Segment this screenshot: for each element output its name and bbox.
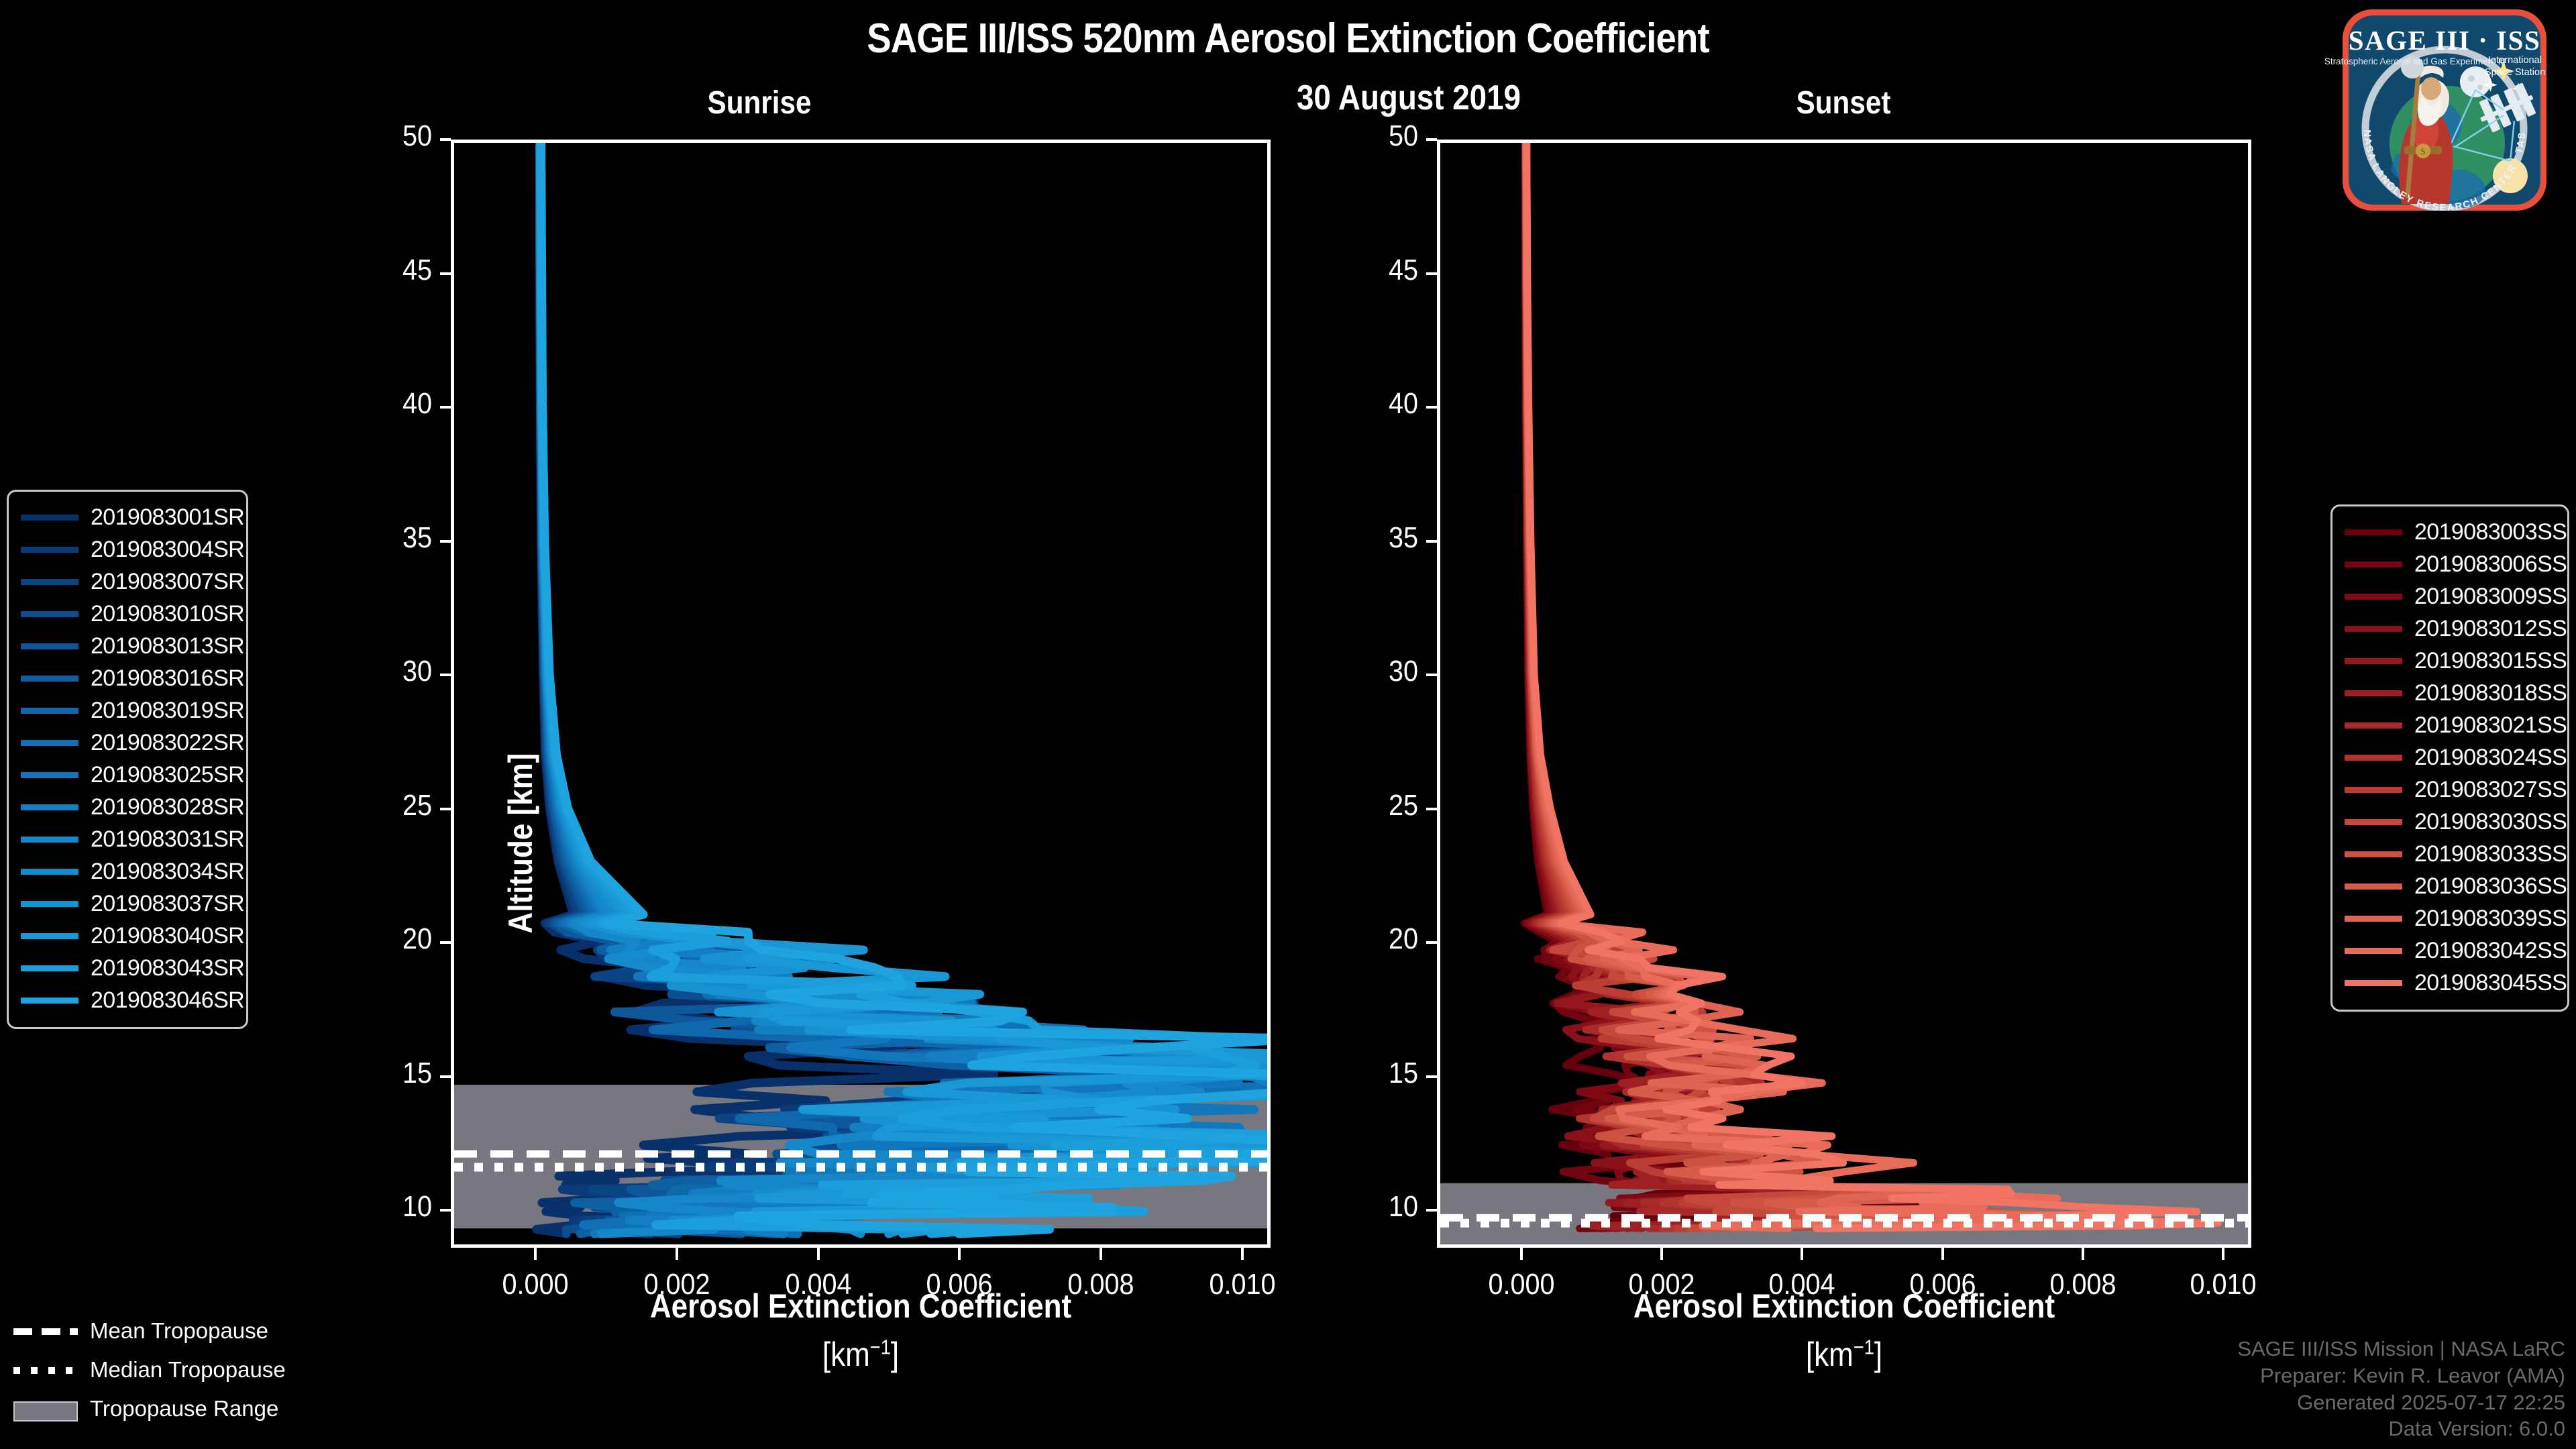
x-axis-tick-mark (1660, 1248, 1663, 1260)
legend-sunset[interactable]: 2019083003SS2019083006SS2019083009SS2019… (2330, 504, 2569, 1012)
y-axis-tick-mark (440, 808, 451, 810)
legend-item[interactable]: 2019083043SR (21, 952, 234, 984)
legend-item-label: 2019083022SR (91, 730, 244, 756)
legend-color-swatch (2345, 658, 2402, 664)
legend-item[interactable]: 2019083045SS (2345, 967, 2555, 999)
x-axis-title-sunset: Aerosol Extinction Coefficient (1486, 1287, 2202, 1326)
legend-color-swatch (21, 869, 78, 875)
y-axis-tick-mark (440, 272, 451, 275)
y-axis-tick-label: 20 (1334, 922, 1418, 956)
legend-item[interactable]: 2019083031SR (21, 823, 234, 855)
legend-item-label: 2019083036SS (2414, 873, 2567, 900)
x-axis-tick-mark (1520, 1248, 1523, 1260)
legend-item-label: 2019083015SS (2414, 648, 2567, 674)
legend-item[interactable]: 2019083042SS (2345, 934, 2555, 967)
legend-item-label: 2019083028SR (91, 794, 244, 820)
logo-subtitle-right-2: Space Station (2485, 67, 2545, 78)
legend-color-swatch (21, 901, 78, 907)
median-tropopause-label: Median Tropopause (90, 1357, 286, 1383)
legend-item[interactable]: 2019083021SS (2345, 709, 2555, 741)
gray-box-icon (13, 1401, 78, 1416)
dotted-line-icon (13, 1362, 78, 1377)
profile-line (1527, 143, 2090, 1228)
legend-color-swatch (21, 579, 78, 585)
legend-color-swatch (2345, 690, 2402, 696)
y-axis-tick-mark (1426, 406, 1437, 409)
plot-area-sunset[interactable] (1437, 140, 2251, 1248)
legend-item[interactable]: 2019083040SR (21, 920, 234, 952)
legend-item-label: 2019083033SS (2414, 841, 2567, 867)
legend-sunrise[interactable]: 2019083001SR2019083004SR2019083007SR2019… (7, 490, 248, 1029)
y-axis-tick-label: 15 (347, 1057, 432, 1090)
profile-line (1526, 143, 2125, 1228)
legend-item-label: 2019083013SR (91, 633, 244, 659)
legend-item-label: 2019083031SR (91, 826, 244, 853)
legend-color-swatch (2345, 722, 2402, 729)
legend-color-swatch (2345, 594, 2402, 600)
legend-item-label: 2019083001SR (91, 504, 244, 531)
legend-color-swatch (2345, 819, 2402, 825)
credit-data-version: Data Version: 6.0.0 (2237, 1415, 2565, 1442)
legend-item[interactable]: 2019083025SR (21, 759, 234, 791)
x-axis-tick-mark (1801, 1248, 1803, 1260)
panel-title-sunrise: Sunrise (606, 85, 913, 121)
page-title: SAGE III/ISS 520nm Aerosol Extinction Co… (154, 15, 2421, 62)
mean-tropopause-label: Mean Tropopause (90, 1318, 268, 1344)
legend-item-label: 2019083034SR (91, 859, 244, 885)
legend-color-swatch (2345, 529, 2402, 535)
y-axis-tick-label: 45 (1334, 254, 1418, 287)
legend-color-swatch (21, 772, 78, 778)
legend-item-mean-tropopause[interactable]: Mean Tropopause (13, 1315, 322, 1347)
y-axis-tick-label: 30 (347, 655, 432, 688)
legend-item-label: 2019083012SS (2414, 616, 2567, 642)
legend-item[interactable]: 2019083037SR (21, 888, 234, 920)
y-axis-tick-mark (1426, 941, 1437, 944)
legend-item[interactable]: 2019083019SR (21, 694, 234, 727)
sunset-profiles-svg (1440, 143, 2248, 1244)
legend-color-swatch (21, 837, 78, 843)
y-axis-tick-label: 15 (1334, 1057, 1418, 1090)
legend-item[interactable]: 2019083015SS (2345, 645, 2555, 677)
y-axis-tick-label: 30 (1334, 655, 1418, 688)
y-axis-tick-label: 10 (347, 1190, 432, 1224)
legend-color-swatch (2345, 561, 2402, 568)
legend-color-swatch (21, 933, 78, 939)
y-axis-tick-label: 40 (347, 387, 432, 421)
x-axis-title-sunrise: Aerosol Extinction Coefficient (500, 1287, 1221, 1326)
logo-subtitle-right-1: International (2488, 55, 2542, 66)
y-axis-tick-label: 20 (347, 922, 432, 956)
legend-item[interactable]: 2019083028SR (21, 791, 234, 823)
legend-item-label: 2019083003SS (2414, 519, 2567, 545)
legend-color-swatch (2345, 851, 2402, 857)
y-axis-tick-label: 25 (347, 789, 432, 822)
sage-iii-iss-mission-logo: S BALL · NASA LANGLEY RESEARCH CENTER · … (2316, 3, 2573, 215)
legend-item-label: 2019083019SR (91, 698, 244, 724)
legend-item-label: 2019083027SS (2414, 777, 2567, 803)
legend-item[interactable]: 2019083013SR (21, 630, 234, 662)
legend-item-label: 2019083016SR (91, 665, 244, 692)
legend-item[interactable]: 2019083009SS (2345, 580, 2555, 612)
legend-item-label: 2019083024SS (2414, 745, 2567, 771)
x-axis-tick-mark (676, 1248, 678, 1260)
legend-item-label: 2019083009SS (2414, 584, 2567, 610)
y-axis-tick-mark (1426, 272, 1437, 275)
logo-subtitle-left: Stratospheric Aerosol and Gas Experiment… (2324, 56, 2506, 66)
legend-item[interactable]: 2019083004SR (21, 533, 234, 566)
y-axis-tick-label: 35 (1334, 521, 1418, 555)
legend-color-swatch (21, 998, 78, 1004)
legend-item[interactable]: 2019083022SR (21, 727, 234, 759)
x-axis-units-sunrise: [km−1] (500, 1335, 1221, 1374)
x-axis-tick-mark (2082, 1248, 2084, 1260)
legend-color-swatch (21, 804, 78, 810)
legend-item[interactable]: 2019083001SR (21, 501, 234, 533)
legend-item-label: 2019083007SR (91, 569, 244, 595)
legend-item-label: 2019083042SS (2414, 938, 2567, 964)
x-axis-units-sunset: [km−1] (1486, 1335, 2202, 1374)
legend-item[interactable]: 2019083018SS (2345, 677, 2555, 709)
legend-item-label: 2019083030SS (2414, 809, 2567, 835)
legend-item-label: 2019083004SR (91, 537, 244, 563)
legend-item-label: 2019083046SR (91, 987, 244, 1014)
legend-item-label: 2019083045SS (2414, 970, 2567, 996)
y-axis-tick-label: 10 (1334, 1190, 1418, 1224)
legend-color-swatch (2345, 883, 2402, 890)
legend-item-label: 2019083037SR (91, 891, 244, 917)
y-axis-tick-mark (440, 1209, 451, 1212)
y-axis-tick-mark (1426, 674, 1437, 676)
legend-item-tropopause-range[interactable]: Tropopause Range (13, 1393, 322, 1425)
legend-item-label: 2019083043SR (91, 955, 244, 981)
legend-color-swatch (21, 611, 78, 617)
x-axis-tick-mark (1241, 1248, 1244, 1260)
sunrise-profiles-svg (454, 143, 1267, 1244)
y-axis-tick-label: 45 (347, 254, 432, 287)
legend-item-label: 2019083010SR (91, 601, 244, 627)
y-axis-tick-label: 40 (1334, 387, 1418, 421)
profile-line (1527, 143, 2081, 1228)
x-axis-tick-mark (2222, 1248, 2224, 1260)
legend-color-swatch (21, 515, 78, 521)
credit-mission: SAGE III/ISS Mission | NASA LaRC (2237, 1336, 2565, 1362)
legend-item-label: 2019083018SS (2414, 680, 2567, 706)
y-axis-tick-label: 50 (347, 119, 432, 153)
legend-item[interactable]: 2019083039SS (2345, 902, 2555, 934)
legend-color-swatch (21, 965, 78, 971)
y-axis-tick-label: 35 (347, 521, 432, 555)
credit-preparer: Preparer: Kevin R. Leavor (AMA) (2237, 1362, 2565, 1389)
legend-item[interactable]: 2019083030SS (2345, 806, 2555, 838)
credit-generated: Generated 2025-07-17 22:25 (2237, 1389, 2565, 1416)
y-axis-tick-mark (1426, 1209, 1437, 1212)
x-axis-tick-mark (534, 1248, 537, 1260)
legend-item-label: 2019083021SS (2414, 712, 2567, 739)
x-axis-tick-mark (1099, 1248, 1102, 1260)
y-axis-tick-mark (1426, 540, 1437, 543)
legend-item-label: 2019083006SS (2414, 551, 2567, 578)
legend-color-swatch (2345, 948, 2402, 954)
legend-color-swatch (21, 676, 78, 682)
logo-title: SAGE III · ISS (2349, 25, 2541, 56)
plot-area-sunrise[interactable] (451, 140, 1271, 1248)
y-axis-tick-mark (1426, 138, 1437, 141)
legend-item-label: 2019083039SS (2414, 906, 2567, 932)
y-axis-tick-mark (440, 138, 451, 141)
y-axis-tick-label: 50 (1334, 119, 1418, 153)
legend-item-label: 2019083025SR (91, 762, 244, 788)
svg-text:S: S (2420, 146, 2425, 156)
legend-item[interactable]: 2019083024SS (2345, 741, 2555, 773)
y-axis-tick-mark (440, 406, 451, 409)
y-axis-tick-mark (440, 1075, 451, 1078)
legend-item[interactable]: 2019083046SR (21, 984, 234, 1016)
panel-title-sunset: Sunset (1690, 85, 1997, 121)
legend-item[interactable]: 2019083016SR (21, 662, 234, 694)
legend-item[interactable]: 2019083033SS (2345, 838, 2555, 870)
legend-color-swatch (21, 643, 78, 649)
legend-item[interactable]: 2019083003SS (2345, 516, 2555, 548)
legend-color-swatch (2345, 787, 2402, 793)
credits-block: SAGE III/ISS Mission | NASA LaRC Prepare… (2237, 1336, 2565, 1442)
legend-color-swatch (2345, 755, 2402, 761)
profile-line (1526, 143, 2033, 1228)
legend-color-swatch (21, 708, 78, 714)
legend-color-swatch (2345, 916, 2402, 922)
legend-item-median-tropopause[interactable]: Median Tropopause (13, 1354, 322, 1386)
date-subtitle: 30 August 2019 (1173, 78, 1645, 118)
legend-color-swatch (21, 547, 78, 553)
x-axis-tick-mark (817, 1248, 820, 1260)
y-axis-tick-mark (440, 941, 451, 944)
legend-item[interactable]: 2019083007SR (21, 566, 234, 598)
legend-item[interactable]: 2019083010SR (21, 598, 234, 630)
legend-color-swatch (2345, 980, 2402, 986)
legend-color-swatch (21, 740, 78, 746)
y-axis-tick-mark (1426, 1075, 1437, 1078)
tropopause-legend: Mean Tropopause Median Tropopause Tropop… (13, 1315, 322, 1432)
y-axis-tick-mark (440, 540, 451, 543)
x-axis-tick-mark (958, 1248, 961, 1260)
legend-item[interactable]: 2019083027SS (2345, 773, 2555, 806)
legend-item[interactable]: 2019083034SR (21, 855, 234, 888)
legend-item-label: 2019083040SR (91, 923, 244, 949)
y-axis-tick-mark (440, 674, 451, 676)
y-axis-tick-label: 25 (1334, 789, 1418, 822)
tropopause-range-label: Tropopause Range (90, 1396, 278, 1421)
legend-item[interactable]: 2019083036SS (2345, 870, 2555, 902)
dashed-line-icon (13, 1324, 78, 1338)
legend-item[interactable]: 2019083012SS (2345, 612, 2555, 645)
legend-color-swatch (2345, 626, 2402, 632)
x-axis-tick-mark (1941, 1248, 1944, 1260)
y-axis-tick-mark (1426, 808, 1437, 810)
mission-patch-icon: S BALL · NASA LANGLEY RESEARCH CENTER · … (2316, 3, 2573, 215)
legend-item[interactable]: 2019083006SS (2345, 548, 2555, 580)
